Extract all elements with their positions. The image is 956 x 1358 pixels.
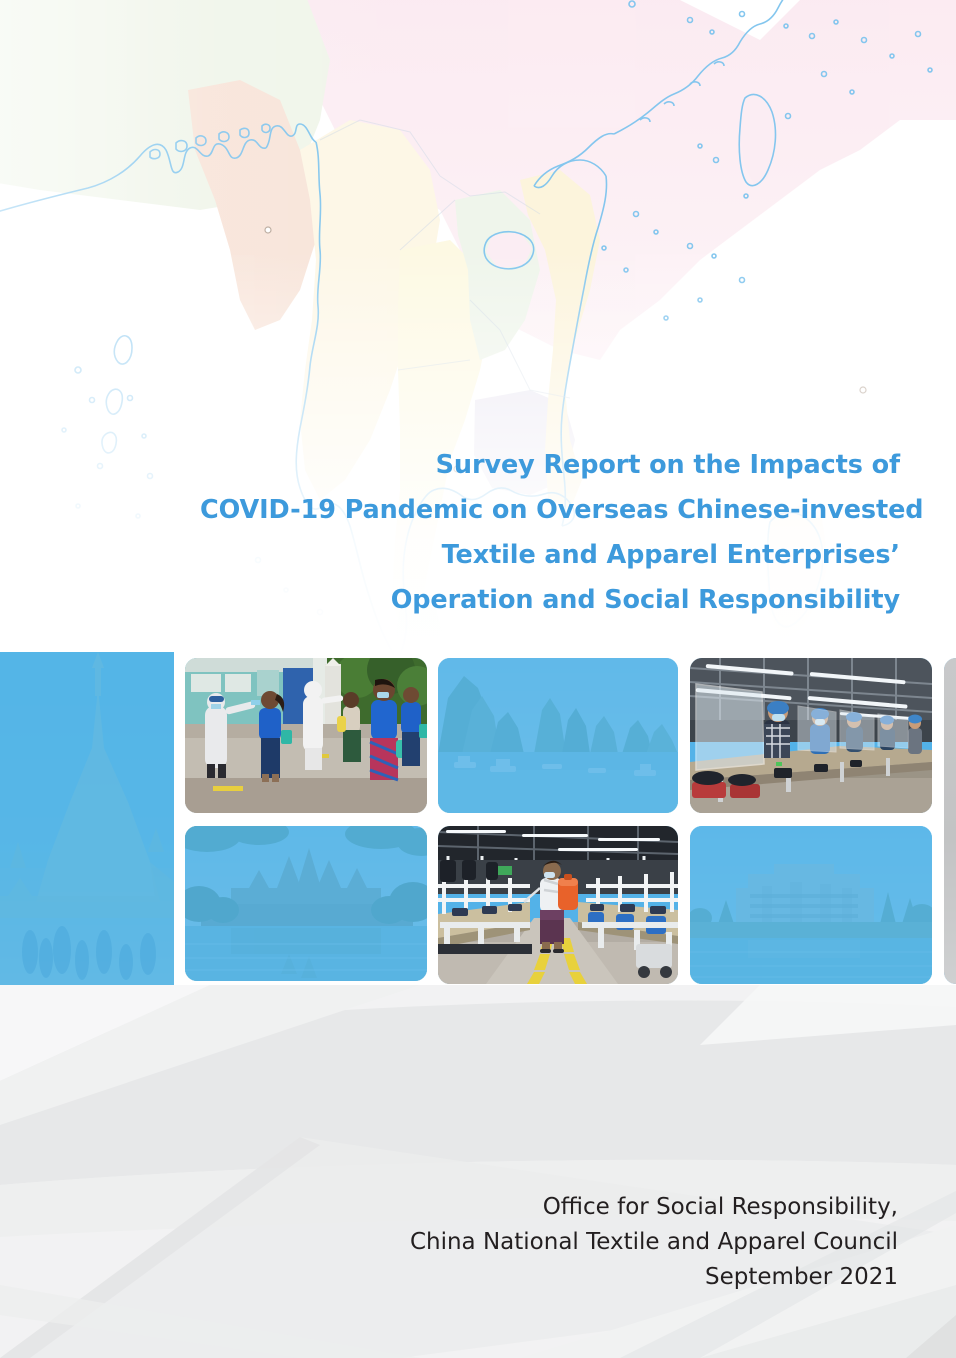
photo-pagoda-scene xyxy=(0,652,174,988)
title-line-1: Survey Report on the Impacts of xyxy=(200,443,900,488)
photo-parliament-building xyxy=(690,826,932,984)
title-line-2: COVID-19 Pandemic on Overseas Chinese-in… xyxy=(200,488,900,533)
photo-angkor xyxy=(185,826,427,981)
footer-line-3: September 2021 xyxy=(178,1260,898,1295)
bottom-geometric-panel xyxy=(0,985,956,1358)
photo-temperature-check-scene xyxy=(185,658,427,813)
photo-angkor-scene xyxy=(185,826,427,981)
photo-garment-line-partitions xyxy=(690,658,932,813)
photo-halong-bay xyxy=(438,658,678,813)
photo-disinfection-scene xyxy=(438,826,678,984)
photo-halong-bay-scene xyxy=(438,658,678,813)
footer-line-2: China National Textile and Apparel Counc… xyxy=(178,1225,898,1260)
footer-line-1: Office for Social Responsibility, xyxy=(178,1190,898,1225)
photo-temperature-check xyxy=(185,658,427,813)
cover-title: Survey Report on the Impacts of COVID-19… xyxy=(200,443,900,623)
photo-garment-line-partitions-scene xyxy=(690,658,932,813)
photo-edge-clipped-scene xyxy=(944,658,956,984)
title-line-4: Operation and Social Responsibility xyxy=(200,578,900,623)
bottom-panel-facets xyxy=(0,985,956,1358)
photo-edge-clipped xyxy=(944,658,956,984)
photo-parliament-blue-tint xyxy=(690,826,932,984)
photo-disinfection xyxy=(438,826,678,984)
photo-parliament-building-scene xyxy=(690,826,932,984)
cover-footer: Office for Social Responsibility, China … xyxy=(178,1190,898,1295)
photo-halong-bay-blue-tint xyxy=(438,658,678,813)
title-line-3: Textile and Apparel Enterprises’ xyxy=(200,533,900,578)
photo-pagoda-blue-tint xyxy=(0,652,174,988)
report-cover-page: Survey Report on the Impacts of COVID-19… xyxy=(0,0,956,1358)
photo-pagoda xyxy=(0,652,174,988)
photo-angkor-blue-tint xyxy=(185,826,427,981)
photo-strip xyxy=(0,648,956,990)
